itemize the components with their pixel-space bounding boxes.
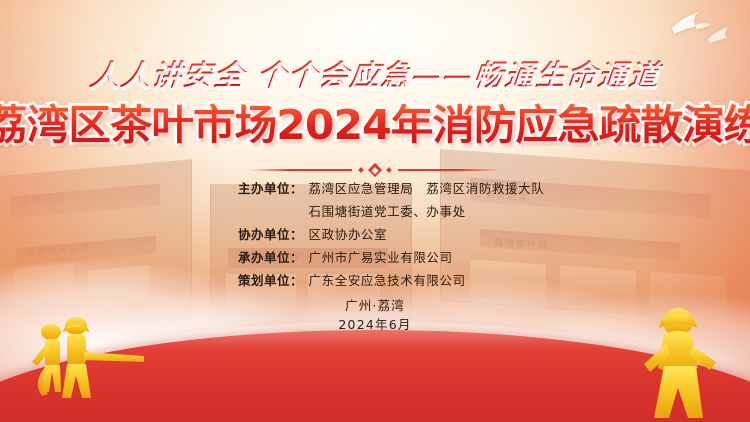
- organizer-value: 荔湾区应急管理局 荔湾区消防救援大队: [309, 178, 545, 197]
- organizer-value: 广东全安应急技术有限公司: [309, 270, 466, 289]
- organizer-label: 主办单位: [216, 178, 290, 197]
- organizer-label: 协办单位: [216, 224, 290, 243]
- divider-line-left: [250, 169, 352, 171]
- organizer-row: 承办单位 ： 广州市广易实业有限公司: [216, 247, 534, 266]
- poster-content: 人人讲安全 个个会应急——畅通生命通道 人人讲安全 个个会应急——畅通生命通道 …: [0, 0, 750, 422]
- divider-line-right: [398, 169, 500, 171]
- organizer-row: 策划单位 ： 广东全安应急技术有限公司: [216, 270, 534, 289]
- organizer-row: 主办单位 ： 石围塘街道党工委、办事处: [216, 201, 534, 220]
- organizer-label: 承办单位: [216, 247, 290, 266]
- footer-location: 广州·荔湾: [0, 296, 750, 315]
- organizer-label: 策划单位: [216, 270, 290, 289]
- organizer-colon: ：: [290, 270, 309, 289]
- organizer-value: 石围塘街道党工委、办事处: [309, 201, 466, 220]
- divider-small-diamond-icon: [358, 167, 364, 173]
- main-title: 荔湾区茶叶市场2024年消防应急疏散演练 荔湾区茶叶市场2024年消防应急疏散演…: [0, 100, 750, 152]
- poster-canvas: 东南光店 粤德煌觉古茶 动湾远达茶厂 茶叶批发 荔湾茶叶城: [0, 0, 750, 422]
- divider-center-diamond-icon: [368, 163, 382, 177]
- organizer-block: 主办单位 ： 荔湾区应急管理局 荔湾区消防救援大队 主办单位 ： 石围塘街道党工…: [0, 178, 750, 289]
- organizer-row: 协办单位 ： 区政协办公室: [216, 224, 534, 243]
- organizer-value: 广州市广易实业有限公司: [309, 247, 453, 266]
- slogan-text: 人人讲安全 个个会应急——畅通生命通道: [0, 52, 750, 94]
- organizer-colon: ：: [290, 224, 309, 243]
- organizer-value: 区政协办公室: [309, 224, 388, 243]
- footer-date: 2024年6月: [0, 315, 750, 334]
- organizer-row: 主办单位 ： 荔湾区应急管理局 荔湾区消防救援大队: [216, 178, 534, 197]
- main-title-fill: 荔湾区茶叶市场2024年消防应急疏散演练: [0, 100, 750, 150]
- footer-block: 广州·荔湾 2024年6月: [0, 296, 750, 334]
- organizer-colon: ：: [290, 178, 309, 197]
- organizer-colon: ：: [290, 247, 309, 266]
- divider-small-diamond-icon: [386, 167, 392, 173]
- decorative-divider: [250, 163, 500, 177]
